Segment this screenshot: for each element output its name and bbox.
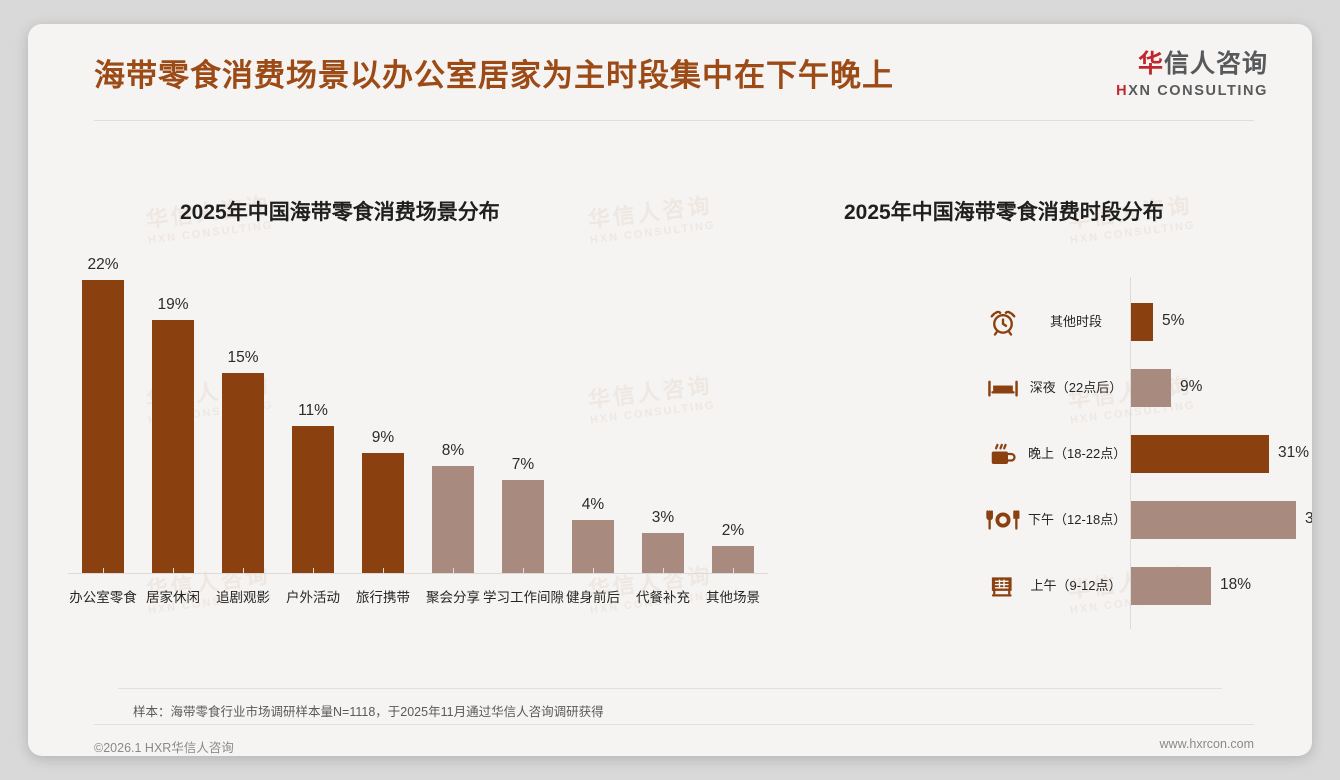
coffee-cup-icon [983,435,1023,473]
left-chart-title: 2025年中国海带零食消费场景分布 [180,196,500,226]
axis-tick [173,568,174,573]
right-chart-title: 2025年中国海带零食消费时段分布 [844,196,1164,226]
header-divider [94,120,1254,121]
bar-group: 19%居家休闲 [138,253,208,573]
axis-tick [663,568,664,573]
timeslot-distribution-chart: 2025年中国海带零食消费时段分布 其他时段5%深夜（22点后）9%晚上（18-… [788,144,1312,644]
bar-group: 11%户外活动 [278,253,348,573]
vertical-bar[interactable] [82,280,124,573]
bar-value-label: 4% [558,496,628,514]
axis-tick [313,568,314,573]
bar-value-label: 22% [68,256,138,274]
bed-icon [983,369,1023,407]
bar-group: 9%旅行携带 [348,253,418,573]
vertical-bar[interactable] [572,520,614,573]
axis-tick [453,568,454,573]
dinner-plate-icon [983,501,1023,539]
bar-group: 15%追剧观影 [208,253,278,573]
x-axis-line [68,573,768,574]
logo-cn-rest: 信人咨询 [1164,50,1268,78]
category-label: 追剧观影 [203,586,283,606]
category-label: 学习工作间隙 [483,586,563,606]
bar-group: 2%其他场景 [698,253,768,573]
horizontal-bar[interactable] [1131,501,1296,539]
timeslot-row: 下午（12-18点）37% [788,487,1312,553]
shopping-cart-icon [983,567,1023,605]
company-logo: 华信人咨询 HXN CONSULTING [1116,52,1268,99]
footer-divider [94,724,1254,725]
logo-english-name: HXN CONSULTING [1116,84,1268,99]
alarm-clock-icon [983,303,1023,341]
logo-en-rest: XN CONSULTING [1128,83,1268,99]
axis-tick [593,568,594,573]
bar-value-label: 9% [1180,378,1202,396]
vertical-bar[interactable] [362,453,404,573]
axis-tick [383,568,384,573]
logo-en-accent: H [1116,83,1128,99]
bar-group: 8%聚会分享 [418,253,488,573]
slide-header: 海带零食消费场景以办公室居家为主时段集中在下午晚上 华信人咨询 HXN CONS… [28,24,1312,121]
vertical-bar[interactable] [642,533,684,573]
bar-group: 4%健身前后 [558,253,628,573]
bar-value-label: 8% [418,442,488,460]
vertical-bar[interactable] [222,373,264,573]
horizontal-bar[interactable] [1131,369,1171,407]
axis-tick [733,568,734,573]
horizontal-bar-plot: 其他时段5%深夜（22点后）9%晚上（18-22点）31%下午（12-18点）3… [788,289,1312,619]
page-title: 海带零食消费场景以办公室居家为主时段集中在下午晚上 [94,50,894,95]
bar-value-label: 2% [698,522,768,540]
logo-chinese-name: 华信人咨询 [1116,52,1268,77]
timeslot-row: 晚上（18-22点）31% [788,421,1312,487]
axis-tick [243,568,244,573]
sample-note: 样本：海带零食行业市场调研样本量N=1118，于2025年11月通过华信人咨询调… [133,701,604,720]
website-link[interactable]: www.hxrcon.com [1160,737,1254,751]
bar-value-label: 15% [208,349,278,367]
bar-value-label: 3% [628,509,698,527]
bar-value-label: 11% [278,402,348,420]
category-label: 其他场景 [693,586,773,606]
horizontal-bar[interactable] [1131,303,1153,341]
timeslot-label: 上午（9-12点） [1028,577,1124,596]
vertical-bar[interactable] [432,466,474,573]
axis-tick [103,568,104,573]
vertical-bar[interactable] [502,480,544,573]
logo-cn-accent: 华 [1138,50,1164,78]
bar-group: 22%办公室零食 [68,253,138,573]
category-label: 户外活动 [273,586,353,606]
horizontal-bar[interactable] [1131,567,1211,605]
vertical-bar[interactable] [292,426,334,573]
timeslot-label: 下午（12-18点） [1028,511,1124,530]
category-label: 健身前后 [553,586,633,606]
bar-group: 3%代餐补充 [628,253,698,573]
category-label: 办公室零食 [63,586,143,606]
slide-card: 海带零食消费场景以办公室居家为主时段集中在下午晚上 华信人咨询 HXN CONS… [28,24,1312,756]
timeslot-label: 其他时段 [1028,313,1124,332]
vertical-bar[interactable] [152,320,194,573]
copyright-text: ©2026.1 HXR华信人咨询 [94,737,234,756]
category-label: 代餐补充 [623,586,703,606]
timeslot-label: 晚上（18-22点） [1028,445,1124,464]
bar-value-label: 7% [488,456,558,474]
bar-value-label: 18% [1220,576,1251,594]
axis-tick [523,568,524,573]
footnote-divider [118,688,1222,689]
timeslot-label: 深夜（22点后） [1028,379,1124,398]
bar-group: 7%学习工作间隙 [488,253,558,573]
bar-value-label: 19% [138,296,208,314]
category-label: 居家休闲 [133,586,213,606]
scenario-distribution-chart: 2025年中国海带零食消费场景分布 22%办公室零食19%居家休闲15%追剧观影… [28,144,788,644]
category-label: 聚会分享 [413,586,493,606]
bar-value-label: 9% [348,429,418,447]
category-label: 旅行携带 [343,586,423,606]
timeslot-row: 上午（9-12点）18% [788,553,1312,619]
horizontal-bar[interactable] [1131,435,1269,473]
bar-value-label: 37% [1305,510,1312,528]
vertical-bar-plot: 22%办公室零食19%居家休闲15%追剧观影11%户外活动9%旅行携带8%聚会分… [68,254,768,574]
timeslot-row: 深夜（22点后）9% [788,355,1312,421]
timeslot-row: 其他时段5% [788,289,1312,355]
bar-value-label: 5% [1162,312,1184,330]
bar-value-label: 31% [1278,444,1309,462]
